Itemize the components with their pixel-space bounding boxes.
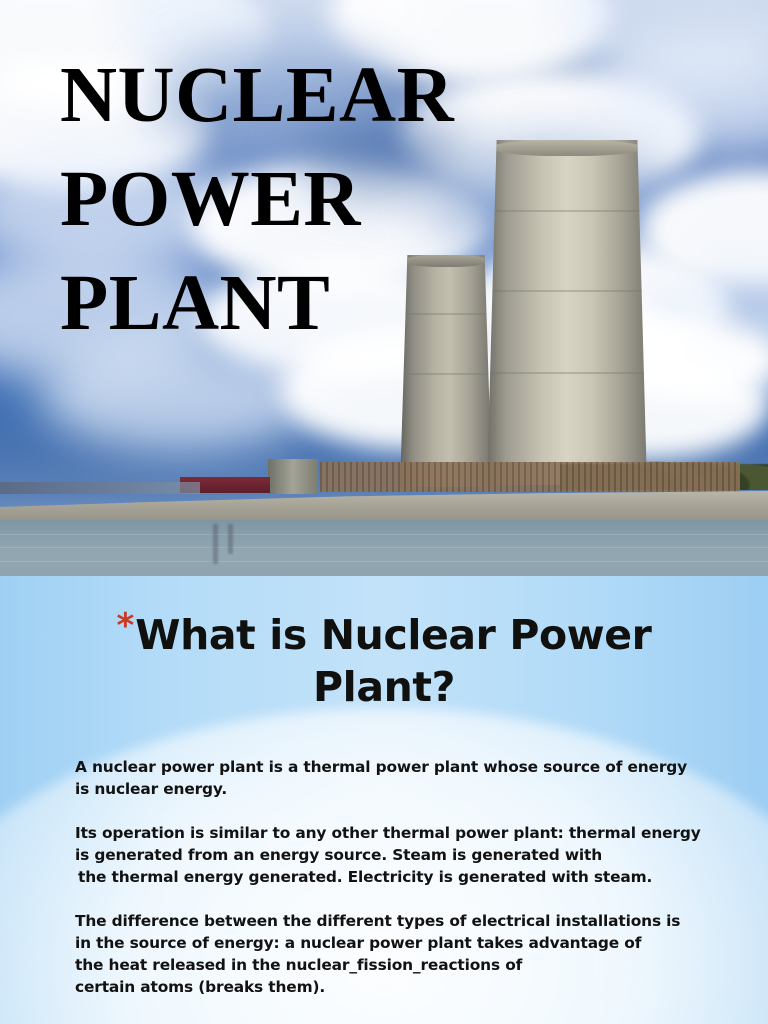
text-line: The difference between the different typ… <box>75 910 725 932</box>
water-ripple <box>0 534 768 535</box>
water-ripple <box>0 561 768 562</box>
text-line: certain atoms (breaks them). <box>75 976 725 998</box>
nuclear-plant-photo: Nuclear Power Plant <box>0 0 768 576</box>
plant-silo-building <box>268 459 318 494</box>
text-line: in the source of energy: a nuclear power… <box>75 932 725 954</box>
water-reflection <box>213 524 218 564</box>
content-panel: *What is Nuclear Power Plant? A nuclear … <box>0 576 768 1024</box>
paragraph-definition: A nuclear power plant is a thermal power… <box>75 756 725 800</box>
body-text: A nuclear power plant is a thermal power… <box>75 756 725 998</box>
water-ripple <box>0 547 768 548</box>
perimeter-fence <box>320 462 740 492</box>
far-shoreline <box>0 482 200 494</box>
text-line: the thermal energy generated. Electricit… <box>75 866 725 888</box>
title-line-3: Plant <box>60 252 540 356</box>
title-line-1: Nuclear <box>60 44 540 148</box>
title-line-2: Power <box>60 148 540 252</box>
text-line: is nuclear energy. <box>75 778 725 800</box>
text-line: is generated from an energy source. Stea… <box>75 844 725 866</box>
presentation-slide: Nuclear Power Plant *What is Nuclear Pow… <box>0 0 768 1024</box>
text-line: the heat released in the nuclear_fission… <box>75 954 725 976</box>
text-line: Its operation is similar to any other th… <box>75 822 725 844</box>
water-reflection <box>228 524 233 554</box>
text-line: A nuclear power plant is a thermal power… <box>75 756 725 778</box>
tower-band <box>487 372 647 374</box>
section-heading: *What is Nuclear Power Plant? <box>40 600 728 713</box>
slide-title: Nuclear Power Plant <box>60 44 540 356</box>
section-heading-text: What is Nuclear Power Plant? <box>135 611 651 711</box>
asterisk-bullet-icon: * <box>116 606 134 646</box>
paragraph-operation: Its operation is similar to any other th… <box>75 822 725 888</box>
tower-band <box>400 373 492 375</box>
reservoir-water <box>0 520 768 576</box>
cloud-shape <box>40 340 320 450</box>
paragraph-difference: The difference between the different typ… <box>75 910 725 998</box>
